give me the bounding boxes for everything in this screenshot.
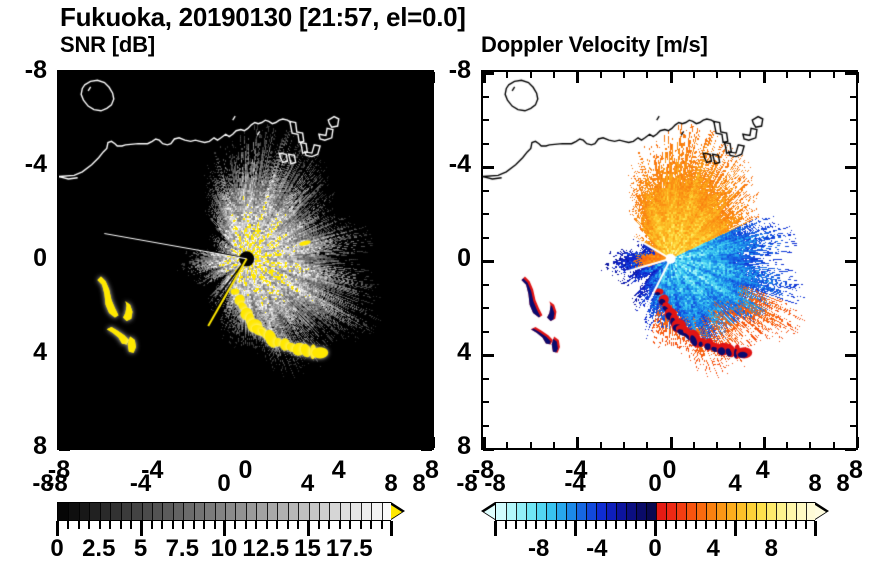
ytick-left-1-7 <box>483 96 489 98</box>
snr-colorbar-segment-divider <box>121 503 122 520</box>
ytick-left-0--4 <box>59 354 70 357</box>
ytick-left-1-2 <box>483 213 489 215</box>
ytick-right-1-2 <box>850 213 856 215</box>
xtick-bottom-0-2 <box>292 442 294 448</box>
doppler-radar-image <box>483 72 856 448</box>
doppler-colorbar-right-arrow-fill <box>815 505 826 519</box>
doppler-colorbar-segment-divider <box>696 503 697 520</box>
xtick-top-1--3 <box>600 72 602 78</box>
doppler-colorbar-minor-tick <box>795 521 797 529</box>
snr-colorbar-minor-tick <box>287 521 289 529</box>
xtick-top-1-5 <box>786 72 788 78</box>
ytick-right-1--8 <box>845 448 856 451</box>
snr-colorbar-segment <box>121 503 132 520</box>
xtick-top-0-6 <box>385 72 387 78</box>
ytick-left-0-0 <box>59 260 70 263</box>
doppler-colorbar-segment <box>736 503 746 520</box>
snr-colorbar-segment-divider <box>277 503 278 520</box>
xtick-bottom-0--4 <box>152 437 155 448</box>
doppler-colorbar-segment <box>506 503 516 520</box>
xtick-top-0-1 <box>269 72 271 78</box>
xtick-top-1-7 <box>833 72 835 78</box>
ytick-right-1-0 <box>845 260 856 263</box>
snr-colorbar-minor-tick <box>370 521 372 529</box>
xtick-top-1--7 <box>506 72 508 78</box>
snr-colorbar-segment-divider <box>142 503 143 520</box>
snr-colorbar-segment-divider <box>183 503 184 520</box>
snr-colorbar-segment-divider <box>267 503 268 520</box>
doppler-colorbar-segment-divider <box>666 503 667 520</box>
ytick-left-0-8 <box>59 72 70 75</box>
snr-colorbar-top-label: 0 <box>184 470 264 498</box>
doppler-colorbar-minor-tick <box>715 521 717 529</box>
ytick-left-1--5 <box>483 378 489 380</box>
ytick-left-1-5 <box>483 143 489 145</box>
doppler-colorbar-minor-tick <box>645 521 647 529</box>
doppler-colorbar-minor-tick <box>635 521 637 529</box>
doppler-colorbar-segment <box>626 503 636 520</box>
doppler-colorbar-minor-tick <box>565 521 567 529</box>
doppler-colorbar-minor-tick <box>675 521 677 529</box>
doppler-colorbar-axis-left-label: -8 <box>427 470 507 498</box>
xtick-bottom-1--6 <box>530 442 532 448</box>
snr-colorbar-minor-tick <box>214 521 216 529</box>
ytick-label-snr-1: 4 <box>0 338 47 367</box>
ytick-right-0-7 <box>426 96 432 98</box>
doppler-colorbar-segment <box>746 503 756 520</box>
xtick-bottom-1-7 <box>833 442 835 448</box>
xtick-top-1-0 <box>670 72 673 83</box>
doppler-colorbar-segment-divider <box>586 503 587 520</box>
doppler-colorbar-segment <box>656 503 666 520</box>
snr-colorbar-minor-tick <box>182 521 184 529</box>
snr-colorbar-segment-divider <box>329 503 330 520</box>
snr-colorbar-minor-tick <box>120 521 122 529</box>
snr-colorbar-major-tick <box>307 521 310 536</box>
snr-colorbar-segment <box>256 503 267 520</box>
ytick-right-1--5 <box>850 378 856 380</box>
xtick-bottom-1-0 <box>670 437 673 448</box>
doppler-colorbar-segment-divider <box>576 503 577 520</box>
doppler-colorbar-segment-divider <box>646 503 647 520</box>
doppler-colorbar-segment <box>796 503 806 520</box>
snr-colorbar-segment <box>162 503 173 520</box>
snr-colorbar-segment-divider <box>256 503 257 520</box>
doppler-colorbar-minor-tick <box>625 521 627 529</box>
doppler-colorbar-segment <box>706 503 716 520</box>
xtick-bottom-1--4 <box>576 437 579 448</box>
doppler-colorbar-minor-tick <box>685 521 687 529</box>
doppler-colorbar-bottom-label: 8 <box>731 535 811 563</box>
xtick-top-0--4 <box>152 72 155 83</box>
xtick-top-1-6 <box>809 72 811 78</box>
snr-colorbar-segment-divider <box>152 503 153 520</box>
snr-colorbar-minor-tick <box>99 521 101 529</box>
snr-colorbar-segment-divider <box>162 503 163 520</box>
snr-colorbar-segment-divider <box>298 503 299 520</box>
snr-colorbar-segment-divider <box>319 503 320 520</box>
snr-colorbar-segment <box>361 503 372 520</box>
snr-colorbar-minor-tick <box>151 521 153 529</box>
doppler-colorbar-segment <box>576 503 586 520</box>
ytick-left-0--1 <box>59 284 65 286</box>
xtick-top-1-3 <box>739 72 741 78</box>
snr-colorbar-segment <box>246 503 257 520</box>
doppler-colorbar-segment-divider <box>516 503 517 520</box>
snr-colorbar-segment <box>204 503 215 520</box>
ytick-label-doppler-4: -8 <box>419 56 471 85</box>
doppler-colorbar-major-tick <box>734 521 737 536</box>
ytick-left-0-4 <box>59 166 70 169</box>
doppler-colorbar-segment <box>756 503 766 520</box>
snr-colorbar-segment <box>277 503 288 520</box>
doppler-colorbar-segment-divider <box>766 503 767 520</box>
ytick-right-1--6 <box>850 401 856 403</box>
doppler-colorbar-major-tick <box>574 521 577 536</box>
ytick-label-doppler-1: 4 <box>419 338 471 367</box>
snr-colorbar-segment-divider <box>340 503 341 520</box>
xtick-bottom-1-6 <box>809 442 811 448</box>
doppler-colorbar-minor-tick <box>595 521 597 529</box>
doppler-colorbar-minor-tick <box>805 521 807 529</box>
doppler-colorbar-segment-divider <box>776 503 777 520</box>
ytick-right-1--4 <box>845 354 856 357</box>
xtick-bottom-1-4 <box>763 437 766 448</box>
snr-colorbar-minor-tick <box>109 521 111 529</box>
ytick-label-doppler-2: 0 <box>419 244 471 273</box>
doppler-colorbar-segment-divider <box>636 503 637 520</box>
snr-colorbar-segment-divider <box>68 503 69 520</box>
snr-colorbar-segment <box>131 503 142 520</box>
snr-colorbar-segment <box>298 503 309 520</box>
xtick-bottom-0-5 <box>362 442 364 448</box>
ytick-left-1-6 <box>483 119 489 121</box>
xtick-bottom-1-8 <box>856 437 859 448</box>
snr-colorbar-minor-tick <box>172 521 174 529</box>
doppler-colorbar-minor-tick <box>705 521 707 529</box>
doppler-colorbar-segment-divider <box>756 503 757 520</box>
doppler-colorbar-segment-divider <box>556 503 557 520</box>
ytick-right-1--7 <box>850 425 856 427</box>
doppler-colorbar-segment-divider <box>686 503 687 520</box>
ytick-label-snr-3: -4 <box>0 150 47 179</box>
snr-colorbar-segment-divider <box>215 503 216 520</box>
xtick-bottom-0-3 <box>315 442 317 448</box>
xtick-bottom-1--5 <box>553 442 555 448</box>
doppler-colorbar-segment-divider <box>506 503 507 520</box>
ytick-left-0--6 <box>59 401 65 403</box>
ytick-label-snr-0: 8 <box>0 432 47 461</box>
ytick-label-snr-4: -8 <box>0 56 47 85</box>
snr-colorbar-segment <box>194 503 205 520</box>
snr-colorbar-segment <box>319 503 330 520</box>
doppler-colorbar-minor-tick <box>545 521 547 529</box>
snr-colorbar-segment <box>267 503 278 520</box>
xtick-top-1--1 <box>646 72 648 78</box>
snr-colorbar-minor-tick <box>78 521 80 529</box>
snr-colorbar-segment <box>152 503 163 520</box>
ytick-left-1--2 <box>483 307 489 309</box>
ytick-right-0-2 <box>426 213 432 215</box>
xtick-bottom-0--2 <box>199 442 201 448</box>
snr-colorbar-top-label: -4 <box>101 470 181 498</box>
xtick-bottom-0-7 <box>409 442 411 448</box>
snr-panel-title: SNR [dB] <box>60 32 155 58</box>
xtick-top-1--2 <box>623 72 625 78</box>
doppler-colorbar-segment <box>726 503 736 520</box>
xtick-top-1-4 <box>763 72 766 83</box>
doppler-colorbar-segment <box>666 503 676 520</box>
snr-radar-image <box>59 72 432 448</box>
doppler-colorbar-segment-divider <box>596 503 597 520</box>
ytick-right-1-8 <box>845 72 856 75</box>
snr-colorbar-segment-divider <box>371 503 372 520</box>
xtick-bottom-0-0 <box>246 437 249 448</box>
doppler-colorbar-segment-divider <box>706 503 707 520</box>
ytick-right-1--3 <box>850 331 856 333</box>
ytick-right-0--3 <box>426 331 432 333</box>
xtick-top-1--5 <box>553 72 555 78</box>
page-title: Fukuoka, 20190130 [21:57, el=0.0] <box>60 2 466 33</box>
snr-colorbar-segment-divider <box>382 503 383 520</box>
xtick-top-1-8 <box>856 72 859 83</box>
xtick-top-0--5 <box>129 72 131 78</box>
doppler-colorbar-segment <box>536 503 546 520</box>
ytick-right-1-1 <box>850 237 856 239</box>
doppler-panel-title: Doppler Velocity [m/s] <box>481 32 708 58</box>
doppler-colorbar-minor-tick <box>765 521 767 529</box>
doppler-colorbar-minor-tick <box>515 521 517 529</box>
doppler-colorbar-segment-divider <box>536 503 537 520</box>
doppler-colorbar-segment-divider <box>526 503 527 520</box>
xtick-bottom-0-4 <box>339 437 342 448</box>
snr-colorbar-minor-tick <box>328 521 330 529</box>
snr-colorbar-minor-tick <box>339 521 341 529</box>
doppler-colorbar-minor-tick <box>555 521 557 529</box>
ytick-left-1--6 <box>483 401 489 403</box>
snr-colorbar-major-tick <box>140 521 143 536</box>
ytick-right-0-3 <box>426 190 432 192</box>
snr-colorbar-segment-divider <box>131 503 132 520</box>
xtick-bottom-1-2 <box>716 442 718 448</box>
snr-colorbar-segment <box>350 503 361 520</box>
snr-colorbar-segment-divider <box>350 503 351 520</box>
snr-colorbar-segment-divider <box>225 503 226 520</box>
snr-colorbar-segment <box>329 503 340 520</box>
snr-colorbar-minor-tick <box>381 521 383 529</box>
snr-colorbar-minor-tick <box>255 521 257 529</box>
snr-colorbar-top-label: 4 <box>268 470 348 498</box>
snr-colorbar-minor-tick <box>349 521 351 529</box>
xtick-top-1-1 <box>693 72 695 78</box>
ytick-left-1-8 <box>483 72 494 75</box>
doppler-colorbar-segment <box>616 503 626 520</box>
doppler-colorbar-top-label: 0 <box>615 470 695 498</box>
ytick-left-1-3 <box>483 190 489 192</box>
xtick-bottom-1-3 <box>739 442 741 448</box>
doppler-colorbar-minor-tick <box>745 521 747 529</box>
ytick-right-0-5 <box>426 143 432 145</box>
snr-colorbar-minor-tick <box>266 521 268 529</box>
snr-colorbar-segment <box>142 503 153 520</box>
ytick-label-snr-2: 0 <box>0 244 47 273</box>
doppler-colorbar-minor-tick <box>725 521 727 529</box>
doppler-colorbar-segment <box>786 503 796 520</box>
doppler-colorbar-minor-tick <box>535 521 537 529</box>
snr-colorbar-segment-divider <box>361 503 362 520</box>
snr-colorbar-segment <box>58 503 69 520</box>
snr-colorbar-segment <box>309 503 320 520</box>
ytick-right-0-6 <box>426 119 432 121</box>
snr-colorbar-segment-divider <box>194 503 195 520</box>
doppler-colorbar-segment <box>696 503 706 520</box>
snr-colorbar-gradient[interactable] <box>57 502 391 521</box>
doppler-colorbar-major-tick <box>654 521 657 536</box>
snr-colorbar-segment-divider <box>100 503 101 520</box>
snr-colorbar-axis-left-label: -8 <box>3 470 83 498</box>
doppler-colorbar-segment <box>676 503 686 520</box>
ytick-label-doppler-0: 8 <box>419 432 471 461</box>
ytick-left-1-1 <box>483 237 489 239</box>
xtick-top-0--2 <box>199 72 201 78</box>
xtick-top-0-4 <box>339 72 342 83</box>
doppler-colorbar-segment <box>606 503 616 520</box>
snr-colorbar-segment <box>235 503 246 520</box>
xtick-top-0--1 <box>222 72 224 78</box>
xtick-top-1--4 <box>576 72 579 83</box>
snr-colorbar-major-tick <box>56 521 59 536</box>
ytick-left-0--3 <box>59 331 65 333</box>
snr-colorbar-segment <box>100 503 111 520</box>
snr-colorbar-segment-divider <box>79 503 80 520</box>
doppler-colorbar-major-tick <box>494 521 497 536</box>
doppler-colorbar-segment-divider <box>716 503 717 520</box>
xtick-top-0-7 <box>409 72 411 78</box>
xtick-bottom-1-1 <box>693 442 695 448</box>
ytick-label-doppler-3: -4 <box>419 150 471 179</box>
ytick-right-0--7 <box>426 425 432 427</box>
ytick-left-1--3 <box>483 331 489 333</box>
doppler-colorbar-minor-tick <box>585 521 587 529</box>
doppler-colorbar-segment <box>776 503 786 520</box>
doppler-colorbar-segment-divider <box>676 503 677 520</box>
doppler-colorbar-segment <box>526 503 536 520</box>
doppler-colorbar-segment-divider <box>806 503 807 520</box>
xtick-top-0-5 <box>362 72 364 78</box>
snr-colorbar-minor-tick <box>67 521 69 529</box>
xtick-bottom-0--1 <box>222 442 224 448</box>
xtick-bottom-1--7 <box>506 442 508 448</box>
ytick-right-0--2 <box>426 307 432 309</box>
snr-colorbar-segment-divider <box>204 503 205 520</box>
snr-colorbar-major-tick <box>390 521 393 536</box>
xtick-bottom-0--3 <box>176 442 178 448</box>
doppler-colorbar-minor-tick <box>505 521 507 529</box>
xtick-bottom-0--6 <box>106 442 108 448</box>
doppler-colorbar-minor-tick <box>695 521 697 529</box>
xtick-bottom-0-6 <box>385 442 387 448</box>
snr-colorbar-segment <box>110 503 121 520</box>
xtick-top-0--7 <box>82 72 84 78</box>
snr-colorbar-minor-tick <box>193 521 195 529</box>
doppler-colorbar-segment <box>586 503 596 520</box>
snr-colorbar-minor-tick <box>234 521 236 529</box>
ytick-left-0--2 <box>59 307 65 309</box>
xtick-top-0--3 <box>176 72 178 78</box>
doppler-colorbar-minor-tick <box>525 521 527 529</box>
doppler-colorbar-segment-divider <box>786 503 787 520</box>
doppler-colorbar-minor-tick <box>615 521 617 529</box>
doppler-colorbar-segment-divider <box>626 503 627 520</box>
xtick-top-0--6 <box>106 72 108 78</box>
snr-colorbar-minor-tick <box>203 521 205 529</box>
ytick-left-1--8 <box>483 448 494 451</box>
doppler-colorbar-segment-divider <box>656 503 657 520</box>
snr-colorbar-segment <box>340 503 351 520</box>
doppler-colorbar-segment <box>716 503 726 520</box>
ytick-left-0-6 <box>59 119 65 121</box>
snr-colorbar-minor-tick <box>88 521 90 529</box>
doppler-colorbar-segment-divider <box>616 503 617 520</box>
doppler-colorbar: -8-4048-8-4048 <box>481 502 829 558</box>
xtick-bottom-1--3 <box>600 442 602 448</box>
snr-colorbar-minor-tick <box>245 521 247 529</box>
ytick-left-1-0 <box>483 260 494 263</box>
ytick-left-0-7 <box>59 96 65 98</box>
snr-colorbar-segment-divider <box>309 503 310 520</box>
snr-colorbar-segment <box>371 503 382 520</box>
doppler-colorbar-minor-tick <box>605 521 607 529</box>
doppler-colorbar-segment-divider <box>566 503 567 520</box>
doppler-colorbar-segment-divider <box>796 503 797 520</box>
xtick-bottom-0-1 <box>269 442 271 448</box>
xtick-top-0-0 <box>246 72 249 83</box>
ytick-right-0-1 <box>426 237 432 239</box>
doppler-colorbar-left-arrow-fill <box>484 505 495 519</box>
doppler-plot-panel[interactable] <box>481 70 858 450</box>
snr-colorbar-segment <box>89 503 100 520</box>
ytick-left-0-3 <box>59 190 65 192</box>
ytick-left-0--7 <box>59 425 65 427</box>
doppler-colorbar-segment <box>646 503 656 520</box>
ytick-left-1--4 <box>483 354 494 357</box>
snr-colorbar-minor-tick <box>130 521 132 529</box>
xtick-bottom-1--1 <box>646 442 648 448</box>
ytick-right-1-7 <box>850 96 856 98</box>
ytick-right-1-4 <box>845 166 856 169</box>
ytick-right-1-5 <box>850 143 856 145</box>
ytick-right-0--6 <box>426 401 432 403</box>
snr-colorbar-minor-tick <box>360 521 362 529</box>
snr-colorbar-ticks <box>57 521 405 535</box>
xtick-bottom-0--7 <box>82 442 84 448</box>
xtick-top-0-2 <box>292 72 294 78</box>
doppler-colorbar-gradient[interactable] <box>495 502 815 521</box>
doppler-colorbar-minor-tick <box>755 521 757 529</box>
doppler-colorbar-axis-right-label: 8 <box>803 470 870 498</box>
ytick-right-1--2 <box>850 307 856 309</box>
doppler-colorbar-segment <box>496 503 506 520</box>
snr-colorbar-minor-tick <box>318 521 320 529</box>
snr-plot-panel[interactable] <box>57 70 434 450</box>
doppler-colorbar-minor-tick <box>785 521 787 529</box>
snr-colorbar-segment <box>288 503 299 520</box>
doppler-colorbar-segment <box>686 503 696 520</box>
snr-colorbar-right-arrow-fill <box>391 505 402 519</box>
ytick-left-1-4 <box>483 166 494 169</box>
doppler-colorbar-segment-divider <box>546 503 547 520</box>
doppler-colorbar-segment-divider <box>606 503 607 520</box>
